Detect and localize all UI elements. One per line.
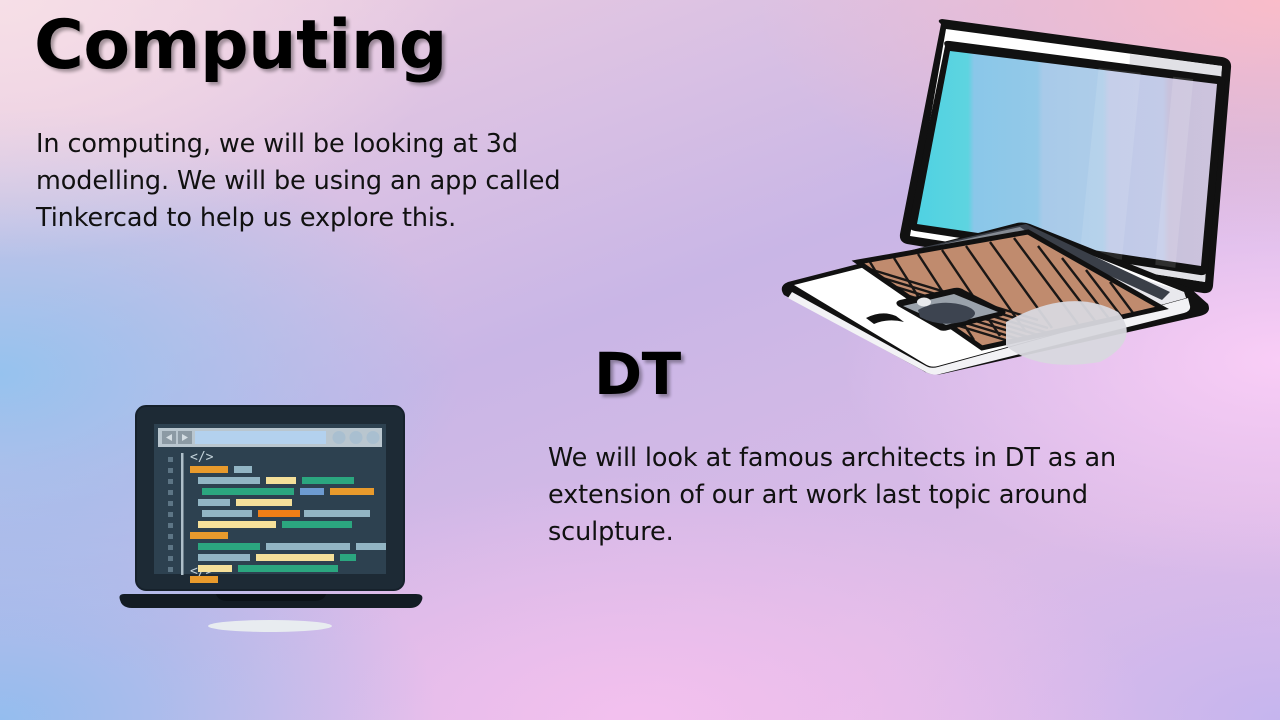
laptop-ground-shadow <box>208 620 332 632</box>
window-dot-3 <box>367 431 380 444</box>
nav-back-icon <box>162 431 176 444</box>
code-open-bracket-icon: </> <box>190 450 214 465</box>
browser-toolbar <box>158 428 382 447</box>
open-white-laptop-illustration <box>770 10 1250 390</box>
window-dot-2 <box>350 431 363 444</box>
code-laptop-base <box>120 594 423 608</box>
page-title-dt: DT <box>594 345 681 403</box>
nav-forward-icon <box>178 431 192 444</box>
code-editor-laptop-illustration: </> </> <box>118 398 428 643</box>
slide-canvas: Computing In computing, we will be looki… <box>0 0 1280 720</box>
address-bar <box>195 431 326 444</box>
editor-rule <box>181 453 184 575</box>
computing-description-text: In computing, we will be looking at 3d m… <box>36 126 651 237</box>
window-dot-1 <box>333 431 346 444</box>
page-title-computing: Computing <box>34 12 447 80</box>
dt-description-text: We will look at famous architects in DT … <box>548 440 1220 551</box>
